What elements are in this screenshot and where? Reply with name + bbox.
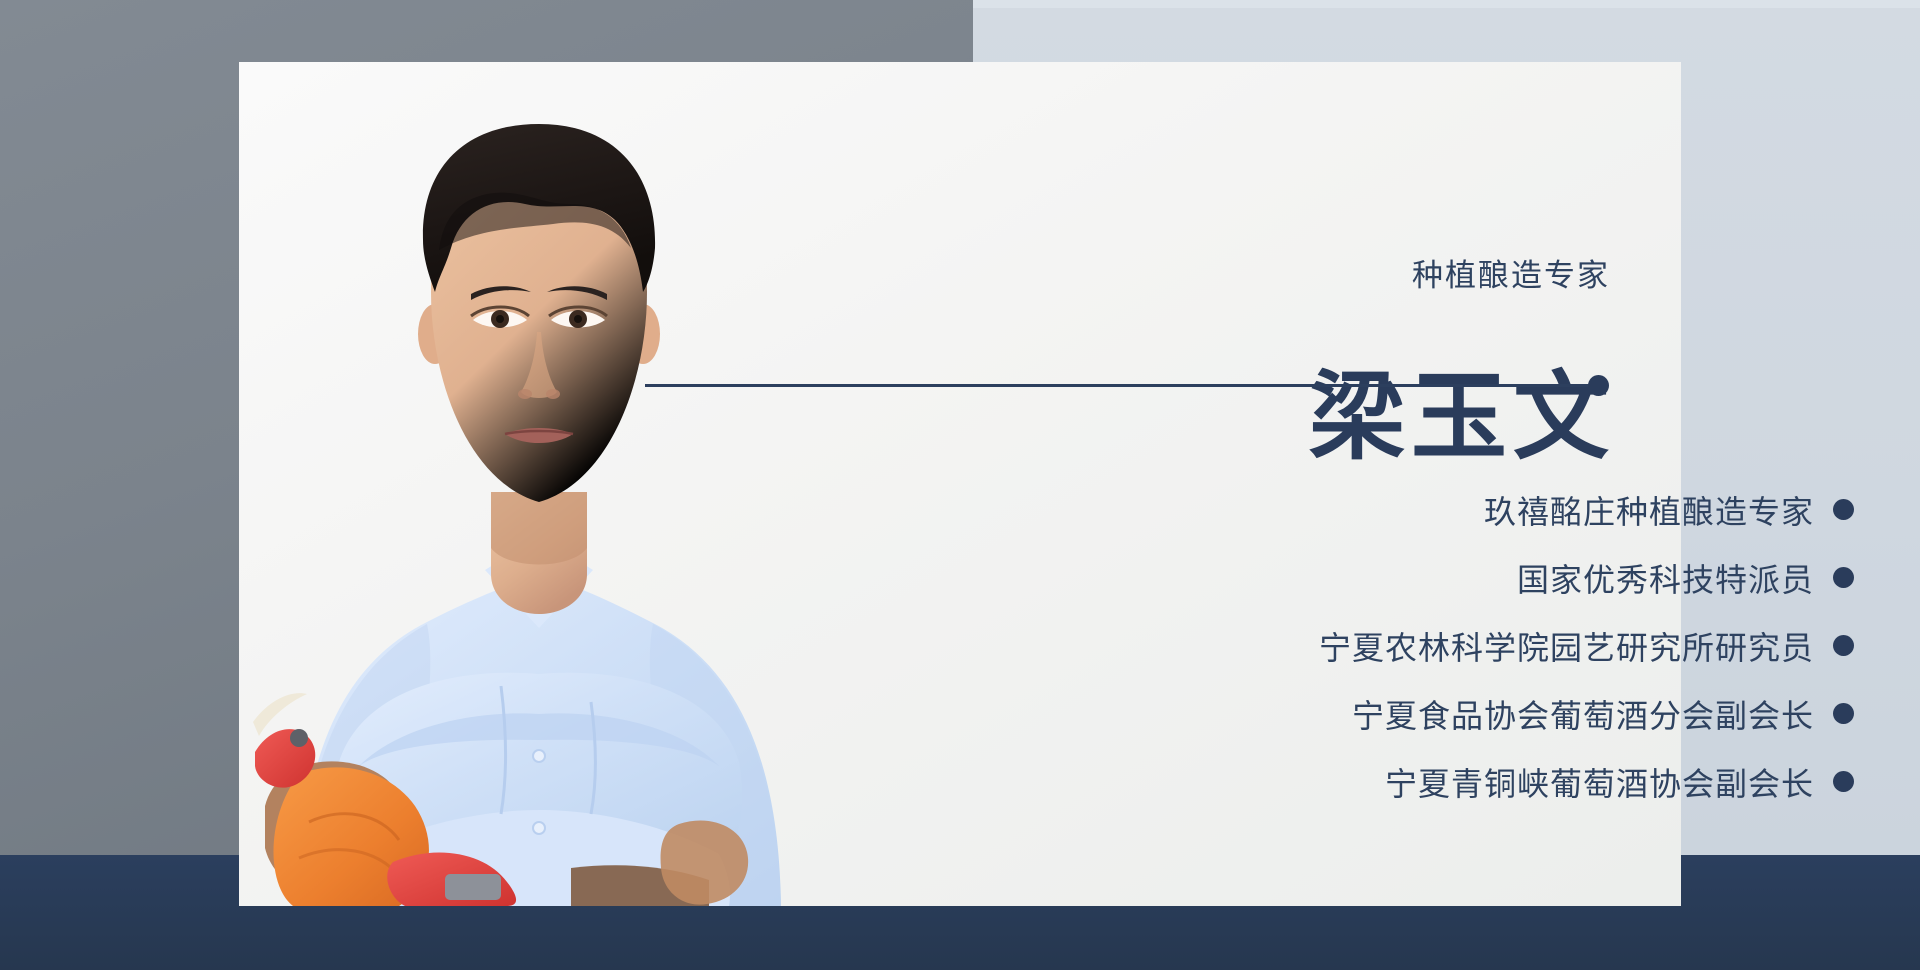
list-item: 宁夏农林科学院园艺研究所研究员 (1134, 624, 1854, 667)
credential-label: 宁夏青铜峡葡萄酒协会副会长 (1385, 759, 1814, 805)
credential-label: 玖禧酩庄种植酿造专家 (1484, 487, 1814, 533)
rule-end-dot-icon (1588, 375, 1609, 396)
credential-list: 玖禧酩庄种植酿造专家 国家优秀科技特派员 宁夏农林科学院园艺研究所研究员 宁夏食… (1134, 488, 1854, 803)
credential-label: 国家优秀科技特派员 (1517, 555, 1814, 601)
bullet-dot-icon (1833, 771, 1854, 792)
list-item: 宁夏青铜峡葡萄酒协会副会长 (1134, 760, 1854, 803)
profile-card-canvas: 种植酿造专家 梁玉文 玖禧酩庄种植酿造专家 国家优秀科技特派员 宁夏农林科学院园… (0, 0, 1920, 970)
list-item: 玖禧酩庄种植酿造专家 (1134, 488, 1854, 531)
divider-rule (645, 384, 1600, 387)
profile-name: 梁玉文 (1309, 366, 1615, 470)
bullet-dot-icon (1833, 499, 1854, 520)
list-item: 宁夏食品协会葡萄酒分会副会长 (1134, 692, 1854, 735)
bullet-dot-icon (1833, 635, 1854, 656)
bullet-dot-icon (1833, 567, 1854, 588)
profile-eyebrow: 种植酿造专家 (1412, 250, 1610, 295)
bullet-dot-icon (1833, 703, 1854, 724)
credential-label: 宁夏食品协会葡萄酒分会副会长 (1352, 691, 1814, 737)
background-top-strip (973, 0, 1920, 8)
credential-label: 宁夏农林科学院园艺研究所研究员 (1319, 623, 1814, 669)
list-item: 国家优秀科技特派员 (1134, 556, 1854, 599)
